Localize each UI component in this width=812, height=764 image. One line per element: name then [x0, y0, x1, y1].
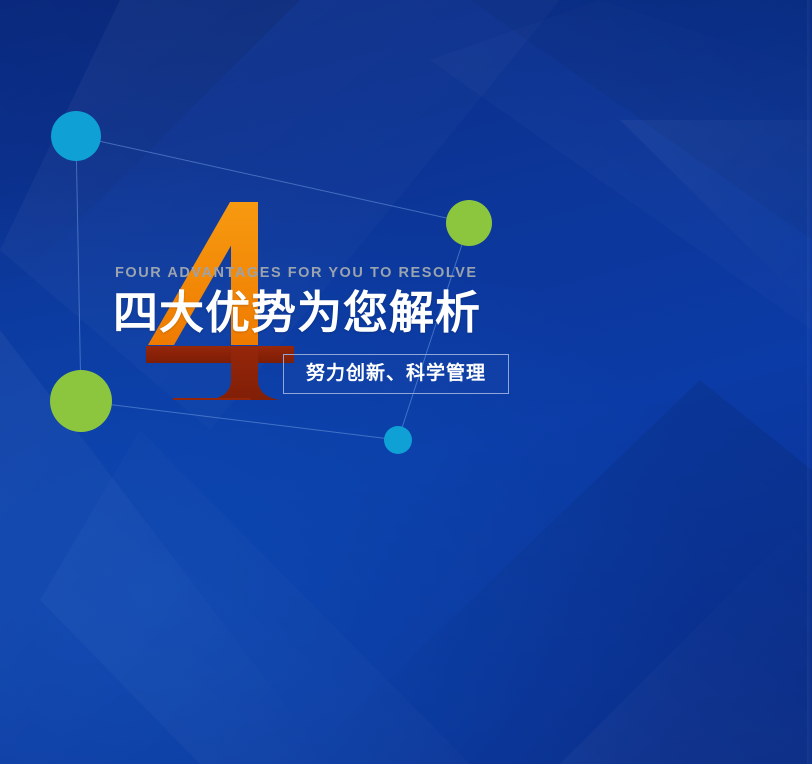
node-green-small	[446, 200, 492, 246]
node-cyan-small	[384, 426, 412, 454]
node-green-large	[50, 370, 112, 432]
page-title: 四大优势为您解析	[113, 289, 673, 337]
link-cyan-large-to-green-large	[76, 136, 81, 401]
tagline-badge: 努力创新、科学管理	[283, 354, 509, 394]
tagline-row: 努力创新、科学管理	[283, 354, 673, 394]
banner-stage: FOUR ADVANTAGES FOR YOU TO RESOLVE 四大优势为…	[0, 0, 812, 764]
node-cyan-large	[51, 111, 101, 161]
banner-content: FOUR ADVANTAGES FOR YOU TO RESOLVE 四大优势为…	[113, 266, 673, 394]
link-green-large-to-cyan-small	[81, 401, 398, 440]
banner-eyebrow: FOUR ADVANTAGES FOR YOU TO RESOLVE	[115, 266, 673, 281]
